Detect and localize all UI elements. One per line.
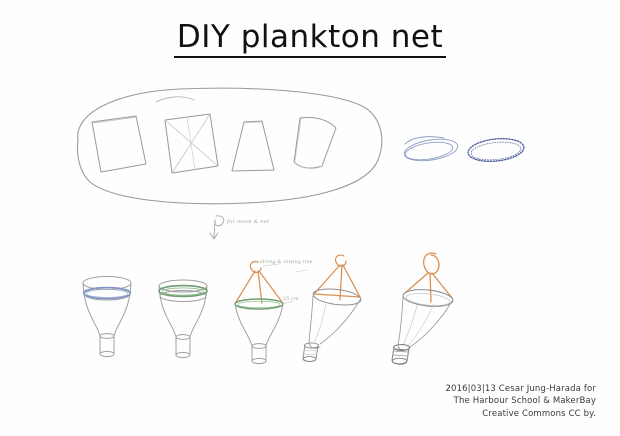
step3-bridle bbox=[236, 262, 282, 303]
credits-line-1: 2016|03|13 Cesar Jung-Harada for bbox=[445, 383, 596, 396]
assembly-step-1 bbox=[72, 272, 142, 367]
pattern-piece-curved-wedge bbox=[294, 117, 336, 168]
callout-arrow-line bbox=[214, 220, 215, 238]
pattern-annotation-text: for mesh & net bbox=[227, 219, 269, 225]
pattern-pieces-oval bbox=[60, 78, 390, 218]
step5-bridle bbox=[405, 253, 452, 302]
ring-pair bbox=[398, 128, 528, 178]
pattern-annotation-callout bbox=[205, 208, 295, 246]
credits-line-2: The Harbour School & MakerBay bbox=[445, 395, 596, 408]
pattern-piece-trapezoid bbox=[232, 121, 274, 171]
credits-block: 2016|03|13 Cesar Jung-Harada for The Har… bbox=[445, 383, 596, 421]
assembly-step-3 bbox=[222, 258, 302, 368]
oval-inner-arc bbox=[156, 97, 194, 102]
step5-collection-jar bbox=[392, 345, 410, 365]
page-title: DIY plankton net bbox=[0, 20, 620, 58]
pattern-piece-square-diagonals bbox=[165, 114, 218, 173]
ring-sketch-light-icon bbox=[403, 136, 459, 164]
credits-line-3: Creative Commons CC by. bbox=[445, 408, 596, 421]
oval-outline bbox=[78, 88, 382, 204]
assembly-step-5 bbox=[382, 246, 477, 368]
assembly-step-4 bbox=[296, 250, 386, 368]
pattern-piece-square bbox=[92, 116, 146, 172]
assembly-step-2 bbox=[148, 272, 218, 367]
page-title-text: DIY plankton net bbox=[174, 20, 446, 58]
callout-loop bbox=[215, 216, 224, 226]
sketch-page: DIY plankton net bbox=[0, 0, 620, 436]
